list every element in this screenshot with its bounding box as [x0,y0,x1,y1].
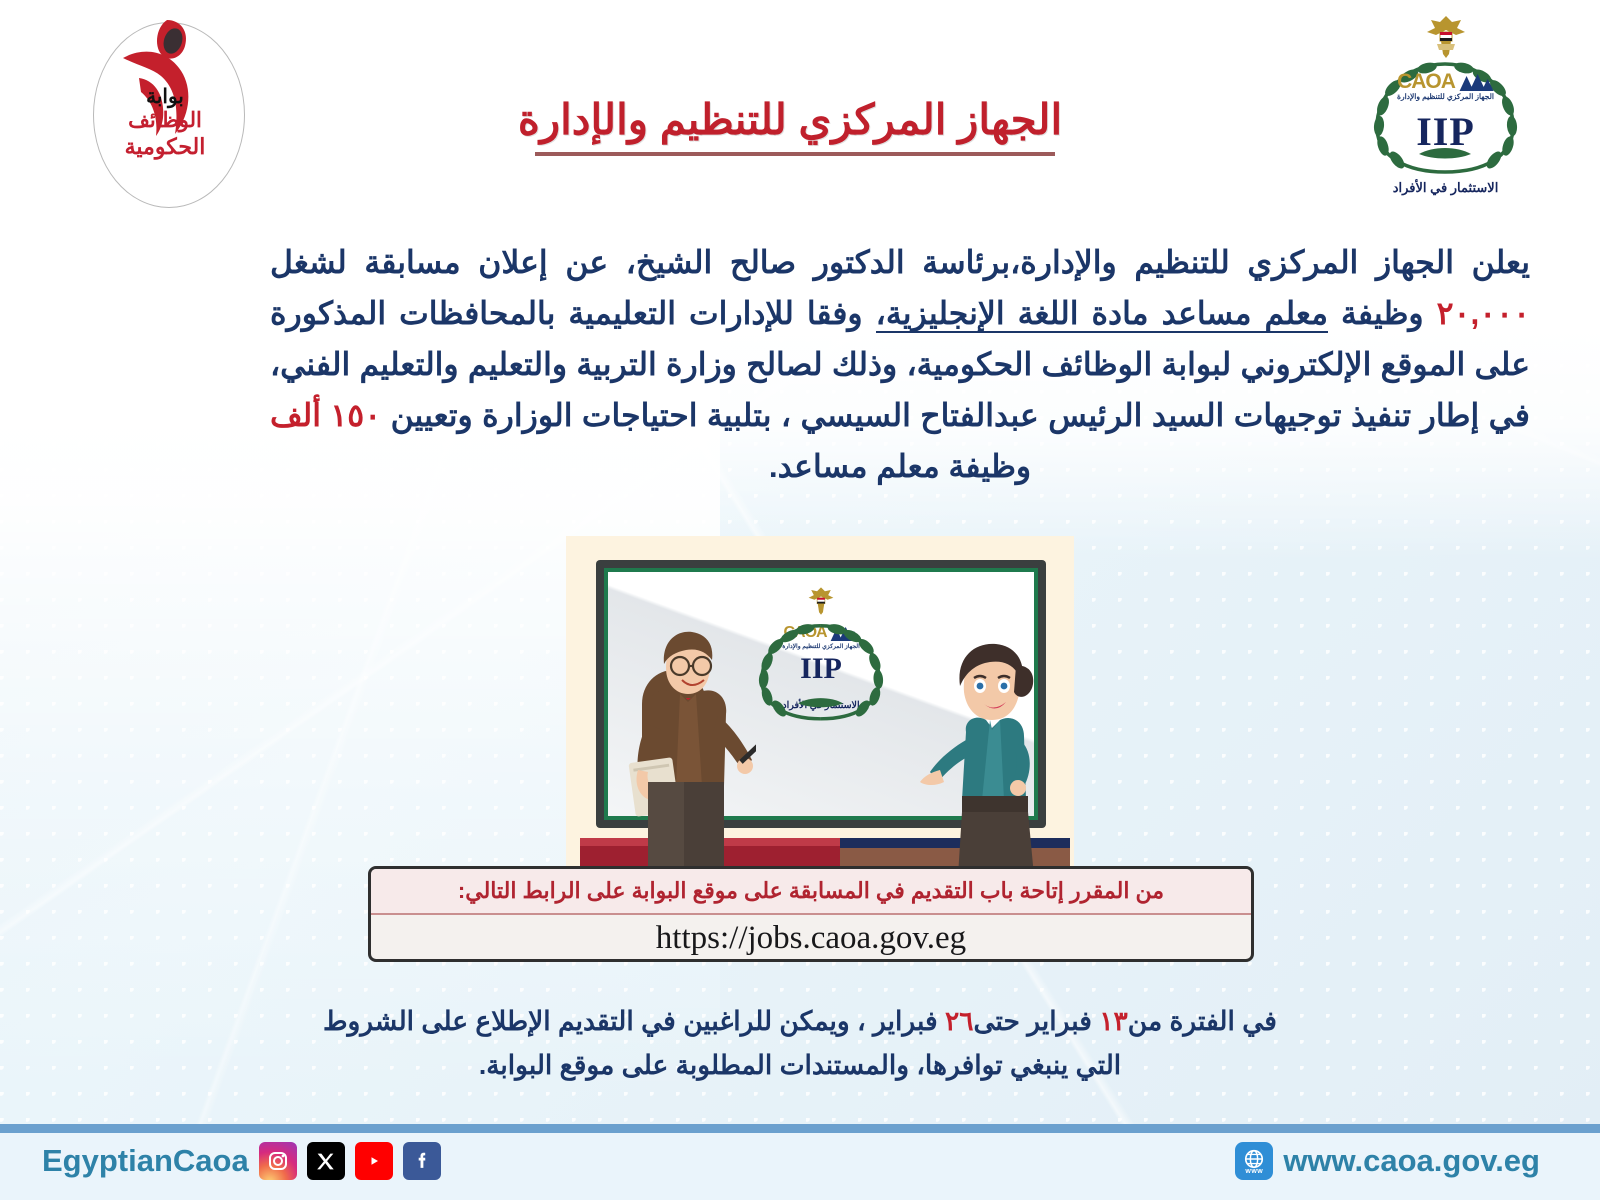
announcement-text-part-2: وظيفة [1328,295,1437,331]
globe-www-label: www [1245,1168,1263,1175]
youtube-icon[interactable] [355,1142,393,1180]
page-title: الجهاز المركزي للتنظيم والإدارة [460,95,1120,144]
portal-logo-line-2: الوظائف [65,109,265,133]
website-url[interactable]: www.caoa.gov.eg [1283,1143,1540,1179]
social-handle[interactable]: EgyptianCaoa [34,1143,249,1179]
announcement-text-part-3: معلم مساعد مادة اللغة الإنجليزية، [876,295,1328,333]
crest-arabic-name: الجهاز المركزي للتنظيم والإدارة [1397,92,1494,101]
announcement-text-part-1: ٢٠,٠٠٠ [1437,295,1530,331]
portal-logo-text: بوابة الوظائف الحكومية [65,86,265,159]
caoa-iip-crest: CAOA الجهاز المركزي للتنظيم والإدارة IIP… [1353,12,1538,202]
application-period-note: في الفترة من١٣ فبراير حتى٢٦ فبراير ، ويم… [300,1000,1300,1087]
crest-motto: الاستثمار في الأفراد [1393,180,1499,196]
portal-logo-line-1: بوابة [65,86,265,109]
crest-caoa-lockup: CAOA [1397,70,1494,94]
crest-iip-text: IIP [1416,108,1475,155]
period-note-text-part-3: ٢٦ [945,1006,973,1036]
x-twitter-icon[interactable] [307,1142,345,1180]
application-link-heading: من المقرر إتاحة باب التقديم في المسابقة … [371,869,1251,915]
period-note-text-part-1: ١٣ [1099,1006,1127,1036]
period-note-text-part-2: فبراير حتى [973,1006,1099,1036]
social-links: EgyptianCaoa [34,1142,441,1180]
announcement-text-part-6: وظيفة معلم مساعد. [769,448,1031,484]
period-note-text-part-0: في الفترة من [1128,1006,1277,1036]
announcement-text-part-5: ١٥٠ ألف [270,397,381,433]
instagram-icon[interactable] [259,1142,297,1180]
pyramids-icon [1458,73,1494,91]
announcement-paragraph: يعلن الجهاز المركزي للتنظيم والإدارة،برئ… [270,237,1530,492]
footer-accent-bar [0,1124,1600,1133]
globe-www-icon: www [1235,1142,1273,1180]
website-link[interactable]: www www.caoa.gov.eg [1235,1142,1540,1180]
header: بوابة الوظائف الحكومية الجهاز المركزي لل… [0,0,1600,215]
classroom-illustration: CAOA الجهاز المركزي للتنظيم والإدارة IIP… [566,536,1074,876]
female-teacher-figure [916,636,1046,876]
portal-logo: بوابة الوظائف الحكومية [65,8,265,213]
portal-logo-line-3: الحكومية [65,134,265,160]
application-url[interactable]: https://jobs.caoa.gov.eg [371,915,1251,961]
board-laurel-wreath-icon [741,612,901,724]
announcement-text-part-0: يعلن الجهاز المركزي للتنظيم والإدارة،برئ… [270,244,1530,280]
facebook-icon[interactable] [403,1142,441,1180]
title-underline-rule [535,152,1055,156]
crest-acronym: CAOA [1397,70,1455,94]
poster: بوابة الوظائف الحكومية الجهاز المركزي لل… [0,0,1600,1200]
male-teacher-figure [606,620,756,876]
application-link-box[interactable]: من المقرر إتاحة باب التقديم في المسابقة … [368,866,1254,962]
